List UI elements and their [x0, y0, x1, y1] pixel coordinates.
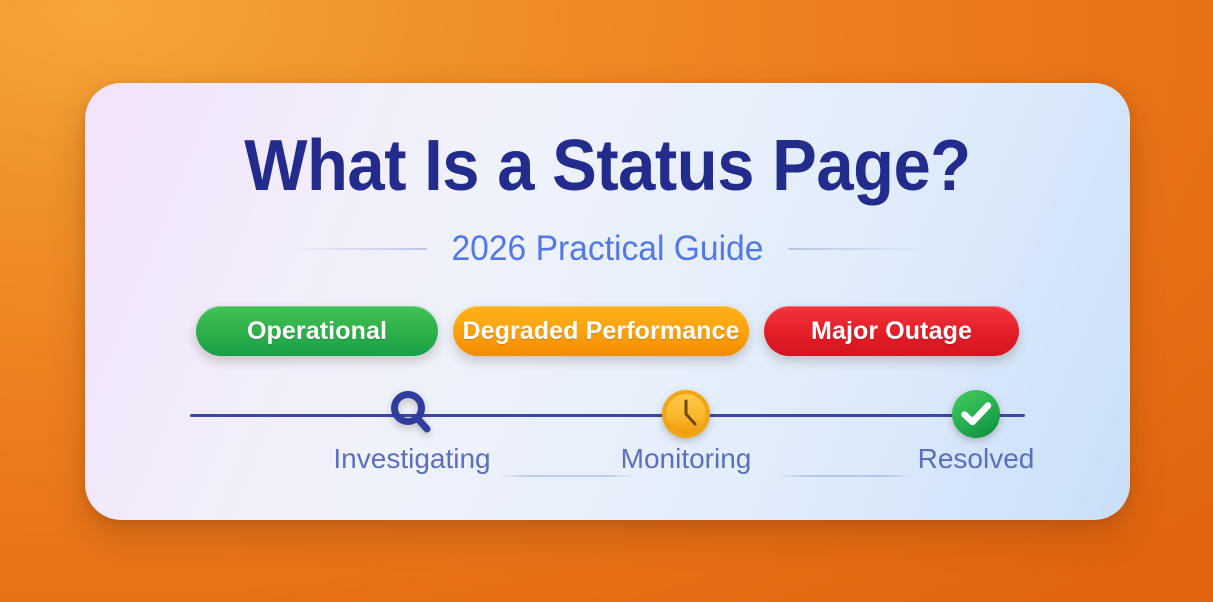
subtitle-rule-left: [282, 248, 427, 250]
page-title: What Is a Status Page?: [122, 130, 1094, 202]
status-pill-major-outage[interactable]: Major Outage: [764, 306, 1019, 356]
timeline-stage-monitoring[interactable]: Monitoring: [591, 399, 781, 473]
timeline-stage-monitoring-label: Monitoring: [621, 445, 752, 473]
incident-timeline: Investigating: [190, 399, 1025, 499]
subtitle-row: 2026 Practical Guide: [85, 231, 1130, 266]
status-pill-group: Operational Degraded Performance Major O…: [85, 306, 1130, 356]
timeline-stage-resolved[interactable]: Resolved: [881, 399, 1071, 473]
status-pill-operational-label: Operational: [247, 317, 387, 346]
clock-icon: [660, 387, 712, 441]
timeline-stages: Investigating: [190, 399, 1025, 499]
subtitle-rule-right: [788, 248, 933, 250]
status-page-card: What Is a Status Page? 2026 Practical Gu…: [85, 83, 1130, 520]
status-pill-degraded-performance-label: Degraded Performance: [462, 317, 739, 346]
status-pill-major-outage-label: Major Outage: [811, 317, 972, 346]
timeline-stage-investigating-label: Investigating: [333, 445, 490, 473]
timeline-stage-resolved-label: Resolved: [918, 445, 1035, 473]
poster-canvas: What Is a Status Page? 2026 Practical Gu…: [0, 0, 1213, 602]
status-pill-degraded-performance[interactable]: Degraded Performance: [453, 306, 749, 356]
page-subtitle: 2026 Practical Guide: [452, 231, 764, 266]
status-pill-operational[interactable]: Operational: [196, 306, 438, 356]
magnifying-glass-icon: [384, 387, 440, 441]
check-circle-icon: [950, 387, 1002, 441]
timeline-stage-investigating[interactable]: Investigating: [317, 399, 507, 473]
